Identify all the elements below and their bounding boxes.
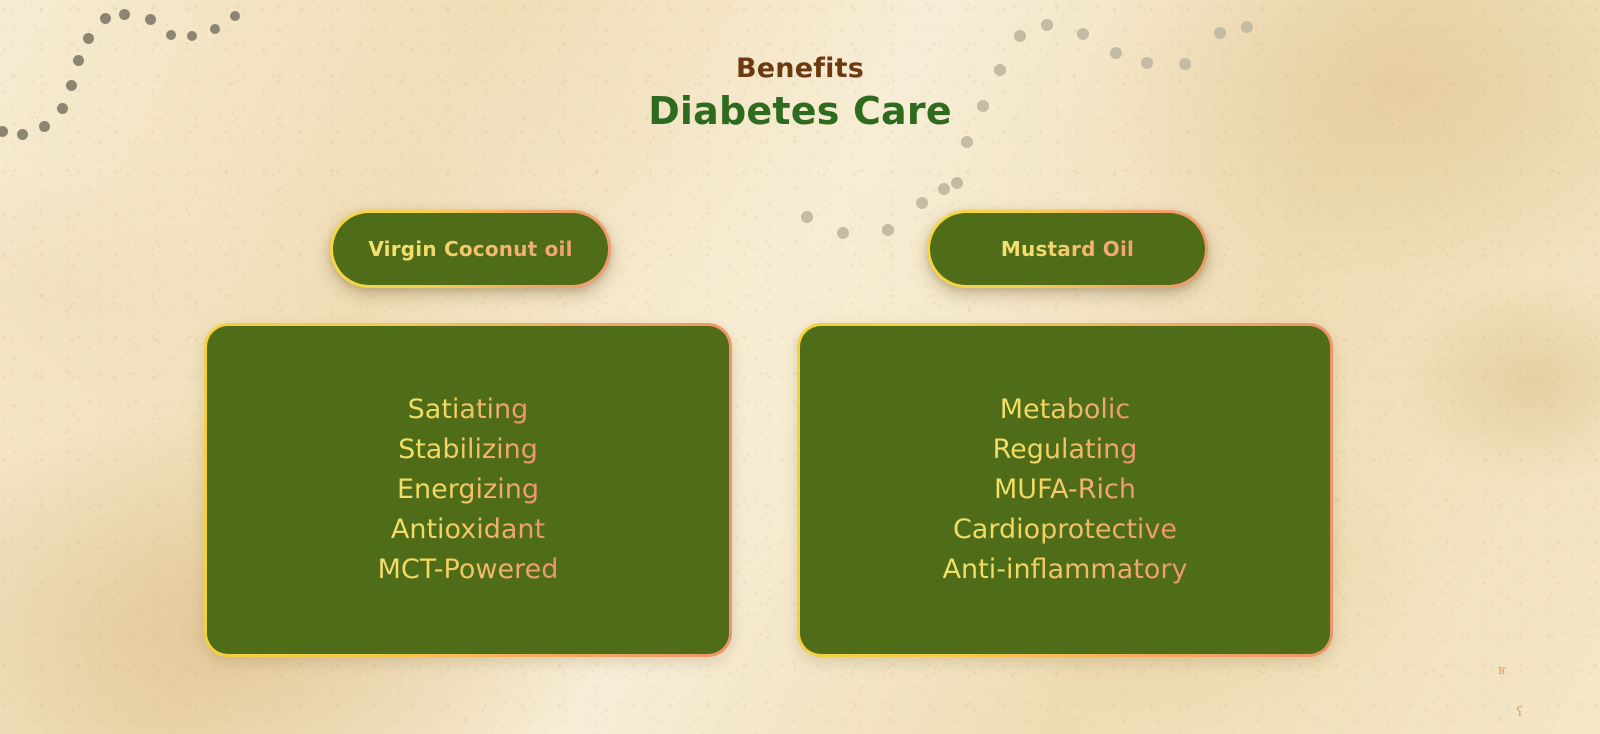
benefit-item: Metabolic <box>1000 390 1131 430</box>
decorative-dot <box>837 227 849 239</box>
decorative-dot <box>100 13 111 24</box>
decorative-dot <box>801 211 813 223</box>
decorative-dot <box>916 197 928 209</box>
paper-speck-icon: ʕ <box>1516 706 1523 719</box>
decorative-dot <box>145 14 156 25</box>
decorative-dot <box>961 136 973 148</box>
slide-canvas: ʁ ʕ Benefits Diabetes Care Virgin Coconu… <box>0 0 1600 734</box>
decorative-dot <box>882 224 894 236</box>
benefit-item: Anti-inflammatory <box>943 550 1188 590</box>
category-pill-mustard-oil[interactable]: Mustard Oil <box>927 210 1208 288</box>
decorative-dot <box>1014 30 1026 42</box>
decorative-dot <box>230 11 240 21</box>
decorative-dot <box>951 177 963 189</box>
benefit-item: Cardioprotective <box>953 510 1177 550</box>
heading-kicker: Benefits <box>0 54 1600 83</box>
category-pill-label: Virgin Coconut oil <box>368 237 572 261</box>
decorative-dot <box>938 183 950 195</box>
benefit-item: Satiating <box>408 390 529 430</box>
category-pill-label: Mustard Oil <box>1001 237 1134 261</box>
benefit-item: MUFA-Rich <box>994 470 1136 510</box>
decorative-dot <box>166 30 176 40</box>
decorative-dot <box>119 9 130 20</box>
benefit-item: Energizing <box>397 470 539 510</box>
benefit-item: Stabilizing <box>398 430 538 470</box>
benefit-item: Regulating <box>993 430 1138 470</box>
decorative-dot <box>1241 21 1253 33</box>
benefit-item: MCT-Powered <box>378 550 559 590</box>
benefits-card-virgin-coconut-oil: SatiatingStabilizingEnergizingAntioxidan… <box>204 323 732 657</box>
decorative-dot <box>83 33 94 44</box>
page-heading: Benefits Diabetes Care <box>0 54 1600 135</box>
category-pill-virgin-coconut-oil[interactable]: Virgin Coconut oil <box>330 210 611 288</box>
benefits-list: SatiatingStabilizingEnergizingAntioxidan… <box>378 390 559 590</box>
paper-speck-icon: ʁ <box>1498 664 1506 677</box>
benefits-card-mustard-oil: MetabolicRegulatingMUFA-RichCardioprotec… <box>797 323 1333 657</box>
decorative-dot <box>1041 19 1053 31</box>
decorative-dot <box>1077 28 1089 40</box>
decorative-dot <box>1214 27 1226 39</box>
page-title: Diabetes Care <box>0 88 1600 135</box>
benefit-item: Antioxidant <box>391 510 545 550</box>
decorative-dot <box>187 31 197 41</box>
benefits-list: MetabolicRegulatingMUFA-RichCardioprotec… <box>943 390 1188 590</box>
decorative-dot <box>210 24 220 34</box>
